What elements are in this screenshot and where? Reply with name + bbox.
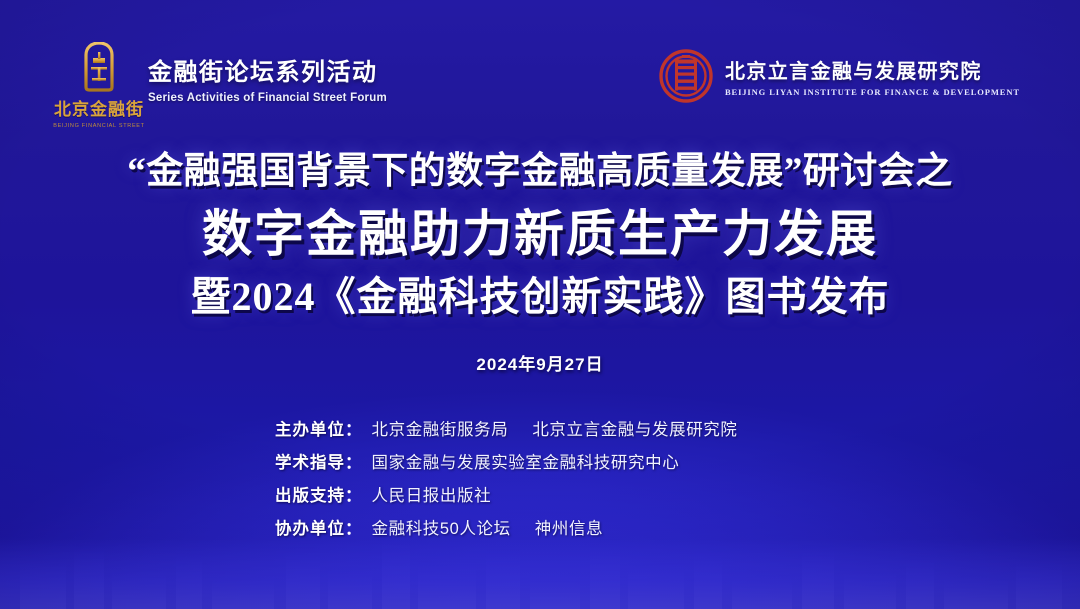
credit-row: 学术指导：国家金融与发展实验室金融科技研究中心 <box>275 449 805 473</box>
bfs-logo-en: BEIJING FINANCIAL STREET <box>53 123 144 129</box>
credit-row: 主办单位：北京金融街服务局北京立言金融与发展研究院 <box>275 416 805 440</box>
credit-values: 北京金融街服务局北京立言金融与发展研究院 <box>372 416 738 440</box>
title-block: “金融强国背景下的数字金融高质量发展”研讨会之 数字金融助力新质生产力发展 暨2… <box>0 148 1080 375</box>
credit-label: 主办单位 <box>275 416 345 440</box>
credit-value: 金融科技50人论坛 <box>372 515 511 539</box>
right-logo-group: 北京立言金融与发展研究院 BEIJING LIYAN INSTITUTE FOR… <box>658 48 1020 104</box>
credit-row: 协办单位：金融科技50人论坛神州信息 <box>275 515 805 539</box>
credit-colon: ： <box>345 515 362 539</box>
forum-title-cn: 金融街论坛系列活动 <box>148 52 387 87</box>
credit-value: 北京立言金融与发展研究院 <box>532 416 737 440</box>
credit-values: 国家金融与发展实验室金融科技研究中心 <box>372 449 680 473</box>
credit-value: 国家金融与发展实验室金融科技研究中心 <box>372 449 680 473</box>
credit-values: 人民日报出版社 <box>372 482 492 506</box>
event-main-title: 数字金融助力新质生产力发展 <box>0 202 1080 266</box>
event-subtitle-line: “金融强国背景下的数字金融高质量发展”研讨会之 <box>0 148 1080 196</box>
event-book-release-line: 暨2024《金融科技创新实践》图书发布 <box>0 270 1080 324</box>
credit-colon: ： <box>345 449 362 473</box>
poster-canvas: 北京金融街 BEIJING FINANCIAL STREET 金融街论坛系列活动… <box>0 0 1080 609</box>
bfs-logo-cn: 北京金融街 <box>54 95 144 120</box>
credit-label: 学术指导 <box>275 449 345 473</box>
liyan-title-group: 北京立言金融与发展研究院 BEIJING LIYAN INSTITUTE FOR… <box>725 55 1020 97</box>
credit-values: 金融科技50人论坛神州信息 <box>372 515 604 539</box>
event-date: 2024年9月27日 <box>0 350 1080 375</box>
credit-label: 协办单位 <box>275 515 345 539</box>
left-logo-group: 北京金融街 BEIJING FINANCIAL STREET 金融街论坛系列活动… <box>62 42 387 129</box>
liyan-title-en: BEIJING LIYAN INSTITUTE FOR FINANCE & DE… <box>725 87 1020 97</box>
beijing-financial-street-seal-icon <box>77 42 121 92</box>
credit-value: 人民日报出版社 <box>372 482 492 506</box>
liyan-institute-seal-icon <box>658 48 714 104</box>
credits-block: 主办单位：北京金融街服务局北京立言金融与发展研究院学术指导：国家金融与发展实验室… <box>0 416 1080 548</box>
credit-value: 神州信息 <box>535 515 603 539</box>
forum-title-group: 金融街论坛系列活动 Series Activities of Financial… <box>148 42 387 104</box>
credit-label: 出版支持 <box>275 482 345 506</box>
beijing-financial-street-logo: 北京金融街 BEIJING FINANCIAL STREET <box>62 42 136 129</box>
forum-title-en: Series Activities of Financial Street Fo… <box>148 92 387 104</box>
liyan-title-cn: 北京立言金融与发展研究院 <box>725 55 1020 84</box>
credit-colon: ： <box>345 482 362 506</box>
credit-colon: ： <box>345 416 362 440</box>
credit-row: 出版支持：人民日报出版社 <box>275 482 805 506</box>
credit-value: 北京金融街服务局 <box>372 416 509 440</box>
